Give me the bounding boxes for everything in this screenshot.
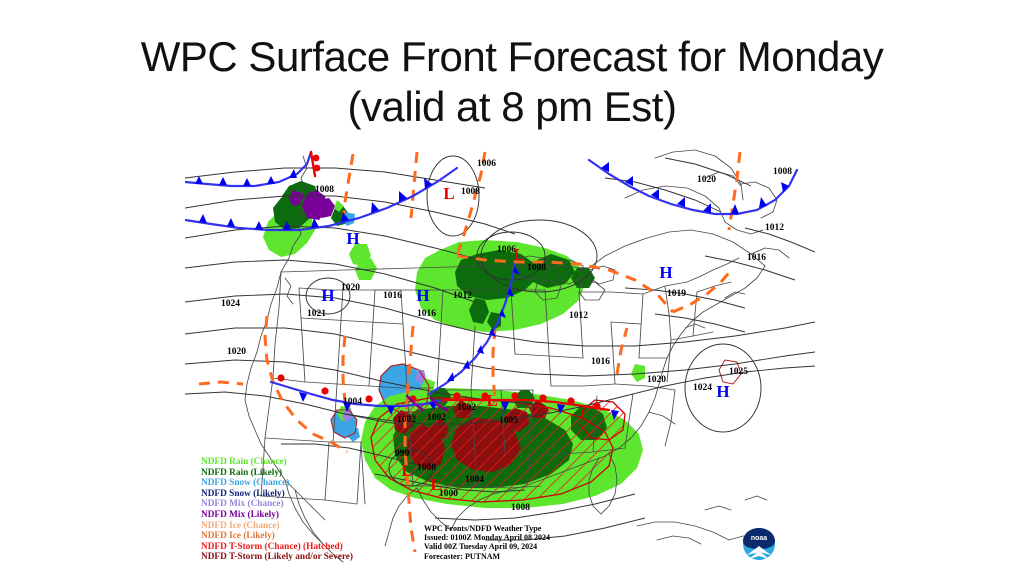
metadata-line-4: Forecaster: PUTNAM xyxy=(424,552,550,561)
svg-text:1000: 1000 xyxy=(417,463,436,473)
svg-text:H: H xyxy=(716,382,729,401)
legend-label-1: NDFD Rain (Likely) xyxy=(201,468,282,478)
svg-text:1008: 1008 xyxy=(315,185,334,195)
svg-text:1012: 1012 xyxy=(453,291,472,301)
svg-text:1008: 1008 xyxy=(527,263,546,273)
noaa-logo-text: noaa xyxy=(751,535,767,542)
metadata-block: WPC Fronts/NDFD Weather Type Issued: 010… xyxy=(424,524,550,561)
svg-text:H: H xyxy=(321,286,334,305)
svg-text:1008: 1008 xyxy=(461,187,480,197)
legend-label-2: NDFD Snow (Chance) xyxy=(201,478,289,488)
noaa-logo: noaa xyxy=(735,518,783,566)
svg-text:1016: 1016 xyxy=(747,253,766,263)
legend-label-5: NDFD Mix (Likely) xyxy=(201,510,279,520)
svg-text:H: H xyxy=(416,286,429,305)
legend-item-4: NDFD Mix (Chance) xyxy=(201,499,411,510)
title-line-1: WPC Surface Front Forecast for Monday xyxy=(141,33,883,80)
legend-item-0: NDFD Rain (Chance) xyxy=(201,457,411,468)
svg-text:1016: 1016 xyxy=(417,309,436,319)
svg-text:H: H xyxy=(659,263,672,282)
svg-text:1002: 1002 xyxy=(397,415,416,425)
svg-text:1005: 1005 xyxy=(499,416,518,426)
svg-text:1008: 1008 xyxy=(773,167,792,177)
svg-text:L: L xyxy=(430,475,441,494)
svg-text:1020: 1020 xyxy=(227,347,246,357)
legend-item-5: NDFD Mix (Likely) xyxy=(201,510,411,521)
metadata-line-3: Valid 00Z Tuesday April 09, 2024 xyxy=(424,542,550,551)
svg-text:1016: 1016 xyxy=(383,291,402,301)
legend-label-3: NDFD Snow (Likely) xyxy=(201,489,285,499)
legend-item-2: NDFD Snow (Chance) xyxy=(201,478,411,489)
legend-item-6: NDFD Ice (Chance) xyxy=(201,521,411,532)
svg-text:1024: 1024 xyxy=(693,383,712,393)
svg-text:1025: 1025 xyxy=(729,367,748,377)
title-line-2: (valid at 8 pm Est) xyxy=(0,82,1024,132)
svg-text:1004: 1004 xyxy=(465,475,484,485)
legend-label-8: NDFD T-Storm (Chance) (Hatched) xyxy=(201,542,343,552)
svg-text:1002: 1002 xyxy=(457,403,476,413)
svg-text:1021: 1021 xyxy=(307,309,326,319)
svg-text:1002: 1002 xyxy=(427,413,446,423)
svg-text:1016: 1016 xyxy=(591,357,610,367)
svg-text:L: L xyxy=(443,184,454,203)
legend-label-4: NDFD Mix (Chance) xyxy=(201,499,284,509)
svg-text:1020: 1020 xyxy=(647,375,666,385)
legend-item-3: NDFD Snow (Likely) xyxy=(201,489,411,500)
legend: NDFD Rain (Chance) NDFD Rain (Likely) ND… xyxy=(201,457,411,563)
svg-text:1024: 1024 xyxy=(221,299,240,309)
metadata-line-2: Issued: 0100Z Monday April 08 2024 xyxy=(424,533,550,542)
svg-text:L: L xyxy=(486,391,497,410)
svg-text:L: L xyxy=(513,245,524,264)
svg-text:1012: 1012 xyxy=(569,311,588,321)
svg-text:H: H xyxy=(346,229,359,248)
legend-item-1: NDFD Rain (Likely) xyxy=(201,468,411,479)
svg-text:1004: 1004 xyxy=(343,397,362,407)
legend-label-6: NDFD Ice (Chance) xyxy=(201,521,280,531)
svg-text:1019: 1019 xyxy=(667,289,686,299)
svg-text:1020: 1020 xyxy=(341,283,360,293)
svg-text:1006: 1006 xyxy=(477,159,496,169)
svg-text:1020: 1020 xyxy=(697,175,716,185)
metadata-line-1: WPC Fronts/NDFD Weather Type xyxy=(424,524,550,533)
svg-text:1008: 1008 xyxy=(511,503,530,513)
svg-text:1000: 1000 xyxy=(439,489,458,499)
legend-item-7: NDFD Ice (Likely) xyxy=(201,531,411,542)
legend-item-8: NDFD T-Storm (Chance) (Hatched) xyxy=(201,542,411,553)
legend-label-7: NDFD Ice (Likely) xyxy=(201,531,275,541)
page-title: WPC Surface Front Forecast for Monday (v… xyxy=(0,32,1024,131)
legend-label-0: NDFD Rain (Chance) xyxy=(201,457,287,467)
legend-item-9: NDFD T-Storm (Likely and/or Severe) xyxy=(201,552,411,563)
svg-text:1012: 1012 xyxy=(765,223,784,233)
legend-label-9: NDFD T-Storm (Likely and/or Severe) xyxy=(201,552,353,562)
